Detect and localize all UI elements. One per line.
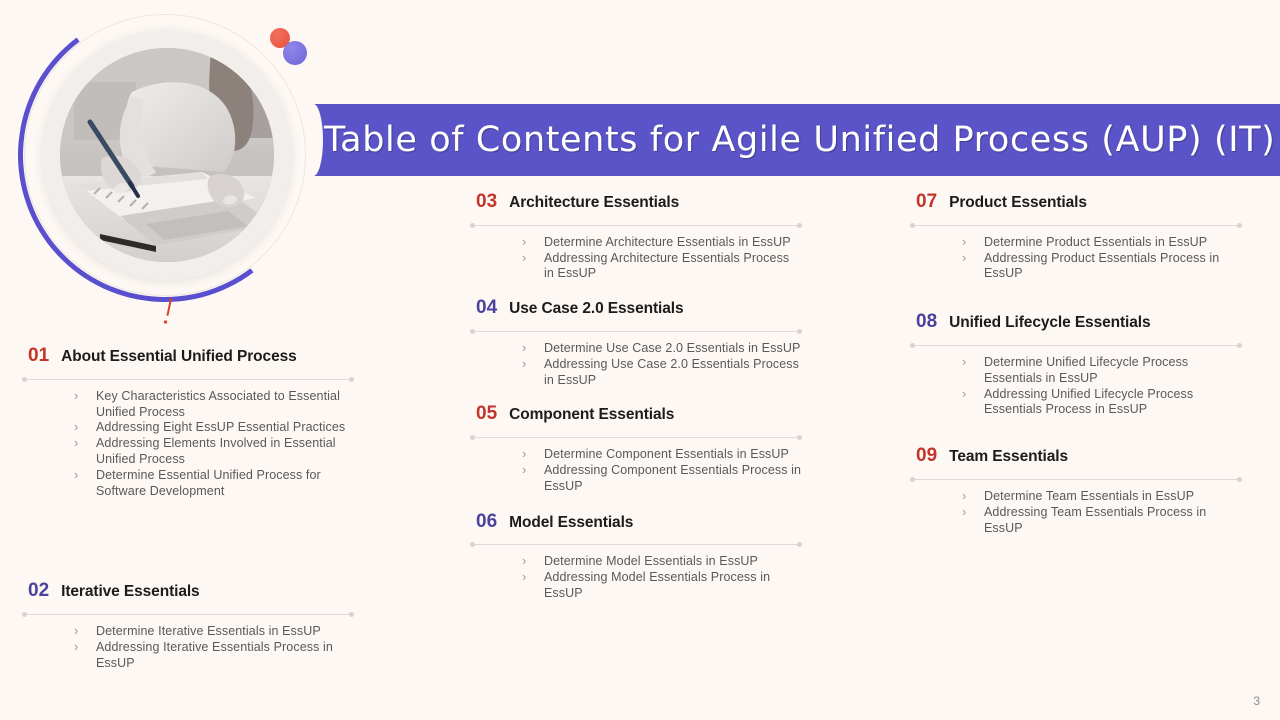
toc-entry-header: 06Model Essentials <box>470 512 802 532</box>
divider-line <box>474 437 798 438</box>
toc-entry-number: 06 <box>476 512 497 531</box>
toc-entry-divider <box>910 342 1242 349</box>
toc-bullet-item[interactable]: ›Addressing Iterative Essentials Process… <box>74 640 354 672</box>
toc-entry-03[interactable]: 03Architecture Essentials›Determine Arch… <box>470 192 802 282</box>
toc-bullet-item[interactable]: ›Addressing Product Essentials Process i… <box>962 251 1242 283</box>
toc-entry-08[interactable]: 08Unified Lifecycle Essentials›Determine… <box>910 312 1242 418</box>
toc-bullet-text: Addressing Iterative Essentials Process … <box>96 640 333 670</box>
toc-entry-04[interactable]: 04Use Case 2.0 Essentials›Determine Use … <box>470 298 802 388</box>
toc-entry-divider <box>470 541 802 548</box>
toc-bullet-text: Determine Essential Unified Process for … <box>96 468 321 498</box>
divider-line <box>474 544 798 545</box>
toc-bullet-text: Determine Architecture Essentials in Ess… <box>544 235 791 249</box>
toc-bullet-item[interactable]: ›Addressing Model Essentials Process in … <box>522 570 802 602</box>
toc-entry-number: 01 <box>28 346 49 365</box>
toc-entry-title: Component Essentials <box>509 406 674 424</box>
toc-bullet-text: Addressing Product Essentials Process in… <box>984 251 1219 281</box>
toc-bullet-list: ›Determine Unified Lifecycle Process Ess… <box>910 355 1242 418</box>
divider-cap-right <box>797 435 802 440</box>
toc-entry-title: Use Case 2.0 Essentials <box>509 300 683 318</box>
toc-bullet-item[interactable]: ›Addressing Use Case 2.0 Essentials Proc… <box>522 357 802 389</box>
toc-bullet-item[interactable]: ›Key Characteristics Associated to Essen… <box>74 389 354 421</box>
hero-graphic <box>18 8 318 328</box>
toc-entry-number: 07 <box>916 192 937 211</box>
hero-photo-notebook-writing <box>60 48 274 262</box>
toc-entry-number: 09 <box>916 446 937 465</box>
chevron-right-icon: › <box>962 488 966 504</box>
toc-bullet-text: Determine Unified Lifecycle Process Esse… <box>984 355 1188 385</box>
toc-entry-title: Unified Lifecycle Essentials <box>949 314 1150 332</box>
toc-bullet-item[interactable]: ›Determine Component Essentials in EssUP <box>522 447 802 463</box>
chevron-right-icon: › <box>74 467 78 483</box>
toc-entry-number: 05 <box>476 404 497 423</box>
toc-entry-header: 09Team Essentials <box>910 446 1242 466</box>
toc-entry-title: Product Essentials <box>949 194 1087 212</box>
toc-entry-header: 05Component Essentials <box>470 404 802 424</box>
divider-cap-right <box>1237 477 1242 482</box>
toc-entry-header: 01About Essential Unified Process <box>22 346 354 366</box>
toc-bullet-text: Determine Model Essentials in EssUP <box>544 554 758 568</box>
toc-bullet-text: Addressing Architecture Essentials Proce… <box>544 251 789 281</box>
chevron-right-icon: › <box>522 462 526 478</box>
chevron-right-icon: › <box>962 386 966 402</box>
toc-bullet-item[interactable]: ›Determine Product Essentials in EssUP <box>962 235 1242 251</box>
toc-bullet-item[interactable]: ›Addressing Unified Lifecycle Process Es… <box>962 387 1242 419</box>
chevron-right-icon: › <box>74 623 78 639</box>
chevron-right-icon: › <box>74 639 78 655</box>
toc-bullet-text: Addressing Model Essentials Process in E… <box>544 570 770 600</box>
toc-entry-number: 03 <box>476 192 497 211</box>
toc-column-left: 01About Essential Unified Process›Key Ch… <box>22 346 354 678</box>
toc-bullet-list: ›Determine Architecture Essentials in Es… <box>470 235 802 282</box>
toc-bullet-text: Determine Use Case 2.0 Essentials in Ess… <box>544 341 800 355</box>
toc-entry-divider <box>910 476 1242 483</box>
divider-cap-right <box>349 612 354 617</box>
toc-bullet-text: Determine Iterative Essentials in EssUP <box>96 624 321 638</box>
toc-bullet-text: Addressing Use Case 2.0 Essentials Proce… <box>544 357 799 387</box>
toc-entry-02[interactable]: 02Iterative Essentials›Determine Iterati… <box>22 581 354 671</box>
toc-bullet-list: ›Determine Component Essentials in EssUP… <box>470 447 802 494</box>
chevron-right-icon: › <box>522 446 526 462</box>
toc-bullet-item[interactable]: ›Determine Iterative Essentials in EssUP <box>74 624 354 640</box>
toc-entry-number: 04 <box>476 298 497 317</box>
divider-line <box>914 479 1238 480</box>
toc-entry-title: Architecture Essentials <box>509 194 679 212</box>
toc-bullet-list: ›Determine Team Essentials in EssUP›Addr… <box>910 489 1242 536</box>
chevron-right-icon: › <box>962 504 966 520</box>
divider-line <box>474 225 798 226</box>
toc-bullet-item[interactable]: ›Determine Unified Lifecycle Process Ess… <box>962 355 1242 387</box>
chevron-right-icon: › <box>74 388 78 404</box>
toc-entry-divider <box>470 222 802 229</box>
chevron-right-icon: › <box>522 234 526 250</box>
divider-line <box>914 345 1238 346</box>
page-number: 3 <box>1253 694 1260 708</box>
toc-bullet-item[interactable]: ›Determine Architecture Essentials in Es… <box>522 235 802 251</box>
toc-bullet-item[interactable]: ›Determine Team Essentials in EssUP <box>962 489 1242 505</box>
chevron-right-icon: › <box>522 250 526 266</box>
toc-bullet-item[interactable]: ›Addressing Component Essentials Process… <box>522 463 802 495</box>
toc-bullet-item[interactable]: ›Addressing Eight EssUP Essential Practi… <box>74 420 354 436</box>
toc-bullet-list: ›Key Characteristics Associated to Essen… <box>22 389 354 500</box>
toc-bullet-text: Determine Team Essentials in EssUP <box>984 489 1194 503</box>
toc-bullet-item[interactable]: ›Addressing Architecture Essentials Proc… <box>522 251 802 283</box>
toc-entry-divider <box>470 434 802 441</box>
toc-bullet-text: Addressing Component Essentials Process … <box>544 463 801 493</box>
toc-entry-05[interactable]: 05Component Essentials›Determine Compone… <box>470 404 802 494</box>
toc-entry-07[interactable]: 07Product Essentials›Determine Product E… <box>910 192 1242 282</box>
toc-entry-number: 08 <box>916 312 937 331</box>
toc-bullet-text: Addressing Unified Lifecycle Process Ess… <box>984 387 1193 417</box>
toc-entry-09[interactable]: 09Team Essentials›Determine Team Essenti… <box>910 446 1242 536</box>
toc-entry-title: Team Essentials <box>949 448 1068 466</box>
toc-bullet-list: ›Determine Model Essentials in EssUP›Add… <box>470 554 802 601</box>
toc-bullet-text: Addressing Team Essentials Process in Es… <box>984 505 1206 535</box>
chevron-right-icon: › <box>522 356 526 372</box>
toc-bullet-item[interactable]: ›Addressing Elements Involved in Essenti… <box>74 436 354 468</box>
divider-cap-right <box>349 377 354 382</box>
chevron-right-icon: › <box>962 354 966 370</box>
toc-entry-header: 04Use Case 2.0 Essentials <box>470 298 802 318</box>
toc-entry-header: 02Iterative Essentials <box>22 581 354 601</box>
toc-bullet-item[interactable]: ›Determine Use Case 2.0 Essentials in Es… <box>522 341 802 357</box>
slide-title-banner: Table of Contents for Agile Unified Proc… <box>307 104 1280 176</box>
chevron-right-icon: › <box>74 419 78 435</box>
toc-bullet-list: ›Determine Use Case 2.0 Essentials in Es… <box>470 341 802 388</box>
toc-entry-title: Model Essentials <box>509 514 633 532</box>
divider-cap-right <box>797 223 802 228</box>
toc-bullet-text: Key Characteristics Associated to Essent… <box>96 389 340 419</box>
toc-bullet-text: Determine Product Essentials in EssUP <box>984 235 1207 249</box>
decorative-dot-purple <box>283 41 307 65</box>
divider-cap-right <box>797 542 802 547</box>
toc-entry-divider <box>470 328 802 335</box>
banner-notch <box>307 104 323 176</box>
page-title: Table of Contents for Agile Unified Proc… <box>307 120 1275 160</box>
toc-entry-header: 03Architecture Essentials <box>470 192 802 212</box>
toc-bullet-text: Determine Component Essentials in EssUP <box>544 447 789 461</box>
toc-entry-title: About Essential Unified Process <box>61 348 297 366</box>
toc-entry-header: 07Product Essentials <box>910 192 1242 212</box>
toc-column-middle: 03Architecture Essentials›Determine Arch… <box>470 192 802 608</box>
toc-bullet-text: Addressing Elements Involved in Essentia… <box>96 436 336 466</box>
toc-entry-06[interactable]: 06Model Essentials›Determine Model Essen… <box>470 512 802 602</box>
chevron-right-icon: › <box>962 250 966 266</box>
toc-bullet-list: ›Determine Product Essentials in EssUP›A… <box>910 235 1242 282</box>
divider-line <box>474 331 798 332</box>
toc-bullet-item[interactable]: ›Determine Essential Unified Process for… <box>74 468 354 500</box>
toc-entry-header: 08Unified Lifecycle Essentials <box>910 312 1242 332</box>
toc-entry-01[interactable]: 01About Essential Unified Process›Key Ch… <box>22 346 354 499</box>
toc-entry-divider <box>22 376 354 383</box>
divider-line <box>914 225 1238 226</box>
divider-line <box>26 379 350 380</box>
divider-cap-right <box>797 329 802 334</box>
chevron-right-icon: › <box>962 234 966 250</box>
chevron-right-icon: › <box>74 435 78 451</box>
toc-bullet-item[interactable]: ›Determine Model Essentials in EssUP <box>522 554 802 570</box>
divider-cap-right <box>1237 223 1242 228</box>
chevron-right-icon: › <box>522 340 526 356</box>
chevron-right-icon: › <box>522 569 526 585</box>
toc-entry-divider <box>22 611 354 618</box>
toc-bullet-item[interactable]: ›Addressing Team Essentials Process in E… <box>962 505 1242 537</box>
toc-bullet-text: Addressing Eight EssUP Essential Practic… <box>96 420 345 434</box>
toc-column-right: 07Product Essentials›Determine Product E… <box>910 192 1242 542</box>
toc-entry-title: Iterative Essentials <box>61 583 199 601</box>
toc-entry-number: 02 <box>28 581 49 600</box>
toc-entry-divider <box>910 222 1242 229</box>
divider-line <box>26 614 350 615</box>
divider-cap-right <box>1237 343 1242 348</box>
toc-bullet-list: ›Determine Iterative Essentials in EssUP… <box>22 624 354 671</box>
chevron-right-icon: › <box>522 553 526 569</box>
